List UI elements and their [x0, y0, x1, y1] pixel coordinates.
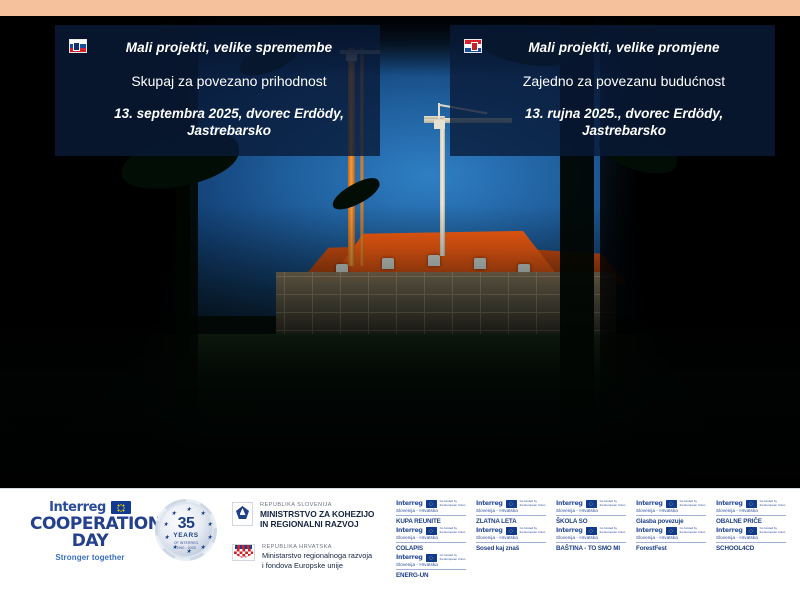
project-logos-grid: InterregCo-funded bythe European UnionSl… — [396, 500, 792, 579]
top-accent-strip — [0, 0, 800, 16]
interreg-wordmark: Interreg — [396, 527, 423, 534]
logo-separator — [556, 542, 626, 543]
interreg-wordmark: Interreg — [636, 500, 663, 507]
project-logo: InterregCo-funded bythe European UnionSl… — [396, 500, 470, 525]
eu-cofunded-label: Co-funded bythe European Union — [760, 500, 790, 507]
logo-separator — [716, 515, 786, 516]
logo-separator — [636, 542, 706, 543]
eu-flag-icon — [746, 500, 757, 508]
eu-cofunded-label: Co-funded bythe European Union — [520, 500, 550, 507]
eu-flag-icon — [426, 500, 437, 508]
interreg-wordmark: Interreg — [716, 500, 743, 507]
project-name: OBALNE PRIČE — [716, 518, 790, 525]
project-logo: InterregCo-funded bythe European UnionSl… — [636, 527, 710, 552]
project-logo: InterregCo-funded bythe European UnionSl… — [476, 500, 550, 525]
slovenia-ministry-line-1: MINISTRSTVO ZA KOHEZIJO — [260, 509, 374, 519]
slovenia-ministry-line-2: IN REGIONALNI RAZVOJ — [260, 519, 374, 529]
eu-cofunded-label: Co-funded bythe European Union — [440, 500, 470, 507]
project-name: ZLATNA LETA — [476, 518, 550, 525]
badge-sub-line-1: OF INTERREG — [174, 541, 199, 545]
project-logo: InterregCo-funded bythe European UnionSl… — [556, 527, 630, 552]
croatian-date-venue: 13. rujna 2025., dvorec Erdödy, Jastreba… — [488, 105, 760, 139]
footer-logo-bar: Interreg COOPERATION DAY Stronger togeth… — [0, 488, 800, 598]
slovenia-country-label: REPUBLIKA SLOVENIJA — [260, 502, 374, 509]
eu-flag-icon — [666, 500, 677, 508]
croatia-ministry-line-1: Ministarstvo regionalnoga razvoja — [262, 551, 372, 561]
interreg-wordmark: Interreg — [636, 527, 663, 534]
bottom-shadow — [0, 316, 800, 488]
logo-separator — [716, 542, 786, 543]
slovenian-date-line-1: 13. septembra 2025, dvorec Erdödy, — [114, 106, 344, 121]
croatia-ministry-logo: REPUBLIKA HRVATSKA Ministarstvo regional… — [232, 544, 372, 570]
project-logo: InterregCo-funded bythe European UnionSl… — [716, 500, 790, 525]
project-name: COLAPIS — [396, 545, 470, 552]
project-logo: InterregCo-funded bythe European UnionSl… — [556, 500, 630, 525]
slovenia-flag-icon — [69, 39, 87, 53]
slovenian-tagline: Mali projekti, velike spremembe — [93, 40, 365, 55]
project-logo: InterregCo-funded bythe European UnionSl… — [636, 500, 710, 525]
event-poster: Mali projekti, velike spremembe Skupaj z… — [0, 0, 800, 598]
croatian-text-panel: Mali projekti, velike promjene Zajedno z… — [450, 25, 775, 156]
project-name: BAŠTINA - TO SMO MI — [556, 545, 630, 552]
eu-flag-icon — [426, 554, 437, 562]
programme-label: Slovenija - Hrvatska — [556, 535, 630, 540]
interreg-wordmark: Interreg — [556, 500, 583, 507]
eu-cofunded-label: Co-funded bythe European Union — [600, 527, 630, 534]
eu-flag-icon — [426, 527, 437, 535]
croatian-tagline: Mali projekti, velike promjene — [488, 40, 760, 55]
slovenian-date-line-2: Jastrebarsko — [187, 123, 271, 138]
eu-flag-icon — [746, 527, 757, 535]
interreg-wordmark: Interreg — [396, 500, 423, 507]
slovenian-date-venue: 13. septembra 2025, dvorec Erdödy, Jastr… — [93, 105, 365, 139]
interreg-wordmark: Interreg — [716, 527, 743, 534]
programme-label: Slovenija - Hrvatska — [716, 508, 790, 513]
interreg-wordmark: Interreg — [396, 554, 423, 561]
logo-separator — [476, 515, 546, 516]
programme-label: Slovenija - Hrvatska — [556, 508, 630, 513]
interreg-wordmark: Interreg — [556, 527, 583, 534]
logo-separator — [396, 515, 466, 516]
badge-number: 35 — [158, 515, 214, 533]
programme-label: Slovenija - Hrvatska — [476, 508, 550, 513]
logo-separator — [396, 569, 466, 570]
interreg-cooperation-day-logo: Interreg COOPERATION DAY Stronger togeth… — [30, 500, 150, 562]
35-years-anniversary-badge: ★★★ ★★★ ★★★ ★ 35 YEARS OF INTERREG 1990 … — [158, 502, 214, 558]
programme-label: Slovenija - Hrvatska — [396, 562, 470, 567]
interreg-wordmark: Interreg — [49, 500, 106, 515]
programme-label: Slovenija - Hrvatska — [636, 508, 710, 513]
badge-sub-line-2: 1990 - 2025 — [176, 546, 195, 550]
croatia-coat-of-arms-icon — [232, 544, 255, 561]
croatian-venue-line-2: Jastrebarsko — [582, 123, 666, 138]
eu-cofunded-label: Co-funded bythe European Union — [440, 527, 470, 534]
project-name: Sosed kaj znaš — [476, 545, 550, 552]
croatia-flag-icon — [464, 39, 482, 53]
project-logo: InterregCo-funded bythe European UnionSl… — [396, 554, 470, 579]
programme-label: Slovenija - Hrvatska — [716, 535, 790, 540]
programme-label: Slovenija - Hrvatska — [396, 535, 470, 540]
day-line: DAY — [72, 531, 108, 551]
eu-cofunded-label: Co-funded bythe European Union — [760, 527, 790, 534]
badge-years-label: YEARS — [158, 532, 214, 539]
interreg-wordmark: Interreg — [476, 500, 503, 507]
badge-sublabel: OF INTERREG 1990 - 2025 — [158, 541, 214, 550]
programme-label: Slovenija - Hrvatska — [396, 508, 470, 513]
project-name: ŠKOLA SO — [556, 518, 630, 525]
footer-divider — [0, 488, 800, 489]
eu-cofunded-label: Co-funded bythe European Union — [440, 554, 470, 561]
croatia-ministry-line-2: i fondova Europske unije — [262, 561, 372, 571]
eu-flag-icon — [506, 500, 517, 508]
croatia-country-label: REPUBLIKA HRVATSKA — [262, 544, 372, 551]
logo-separator — [396, 542, 466, 543]
programme-label: Slovenija - Hrvatska — [476, 535, 550, 540]
eu-cofunded-label: Co-funded bythe European Union — [600, 500, 630, 507]
project-name: SCHOOL4CD — [716, 545, 790, 552]
logo-separator — [476, 542, 546, 543]
croatian-venue-line-1: dvorec Erdödy, — [625, 106, 723, 121]
croatian-date-plain: 13. rujna 2025., — [525, 106, 626, 121]
project-name: ForestFest — [636, 545, 710, 552]
project-name: ENERG-UN — [396, 572, 470, 579]
logo-separator — [556, 515, 626, 516]
project-name: KUPA REUNITE — [396, 518, 470, 525]
logo-separator — [636, 515, 706, 516]
slovenia-ministry-logo: REPUBLIKA SLOVENIJA MINISTRSTVO ZA KOHEZ… — [232, 502, 374, 529]
eu-flag-icon — [586, 500, 597, 508]
cooperation-day-wordmark: COOPERATION DAY — [30, 516, 150, 550]
project-logo: InterregCo-funded bythe European UnionSl… — [716, 527, 790, 552]
eu-cofunded-label: Co-funded bythe European Union — [680, 527, 710, 534]
slovenian-subtitle: Skupaj za povezano prihodnost — [93, 73, 365, 89]
project-name: Glasba povezuje — [636, 518, 710, 525]
slovenian-text-panel: Mali projekti, velike spremembe Skupaj z… — [55, 25, 380, 156]
eu-flag-icon — [586, 527, 597, 535]
eu-cofunded-label: Co-funded bythe European Union — [520, 527, 550, 534]
eu-flag-icon — [666, 527, 677, 535]
croatian-subtitle: Zajedno za povezanu budućnost — [488, 73, 760, 89]
eu-cofunded-label: Co-funded bythe European Union — [680, 500, 710, 507]
project-logo: InterregCo-funded bythe European UnionSl… — [476, 527, 550, 552]
interreg-wordmark: Interreg — [476, 527, 503, 534]
cooperation-day-tagline: Stronger together — [30, 553, 150, 562]
programme-label: Slovenija - Hrvatska — [636, 535, 710, 540]
eu-flag-icon — [506, 527, 517, 535]
project-logo: InterregCo-funded bythe European UnionSl… — [396, 527, 470, 552]
eu-flag-icon — [111, 501, 131, 514]
slovenia-coat-of-arms-icon — [232, 502, 253, 526]
